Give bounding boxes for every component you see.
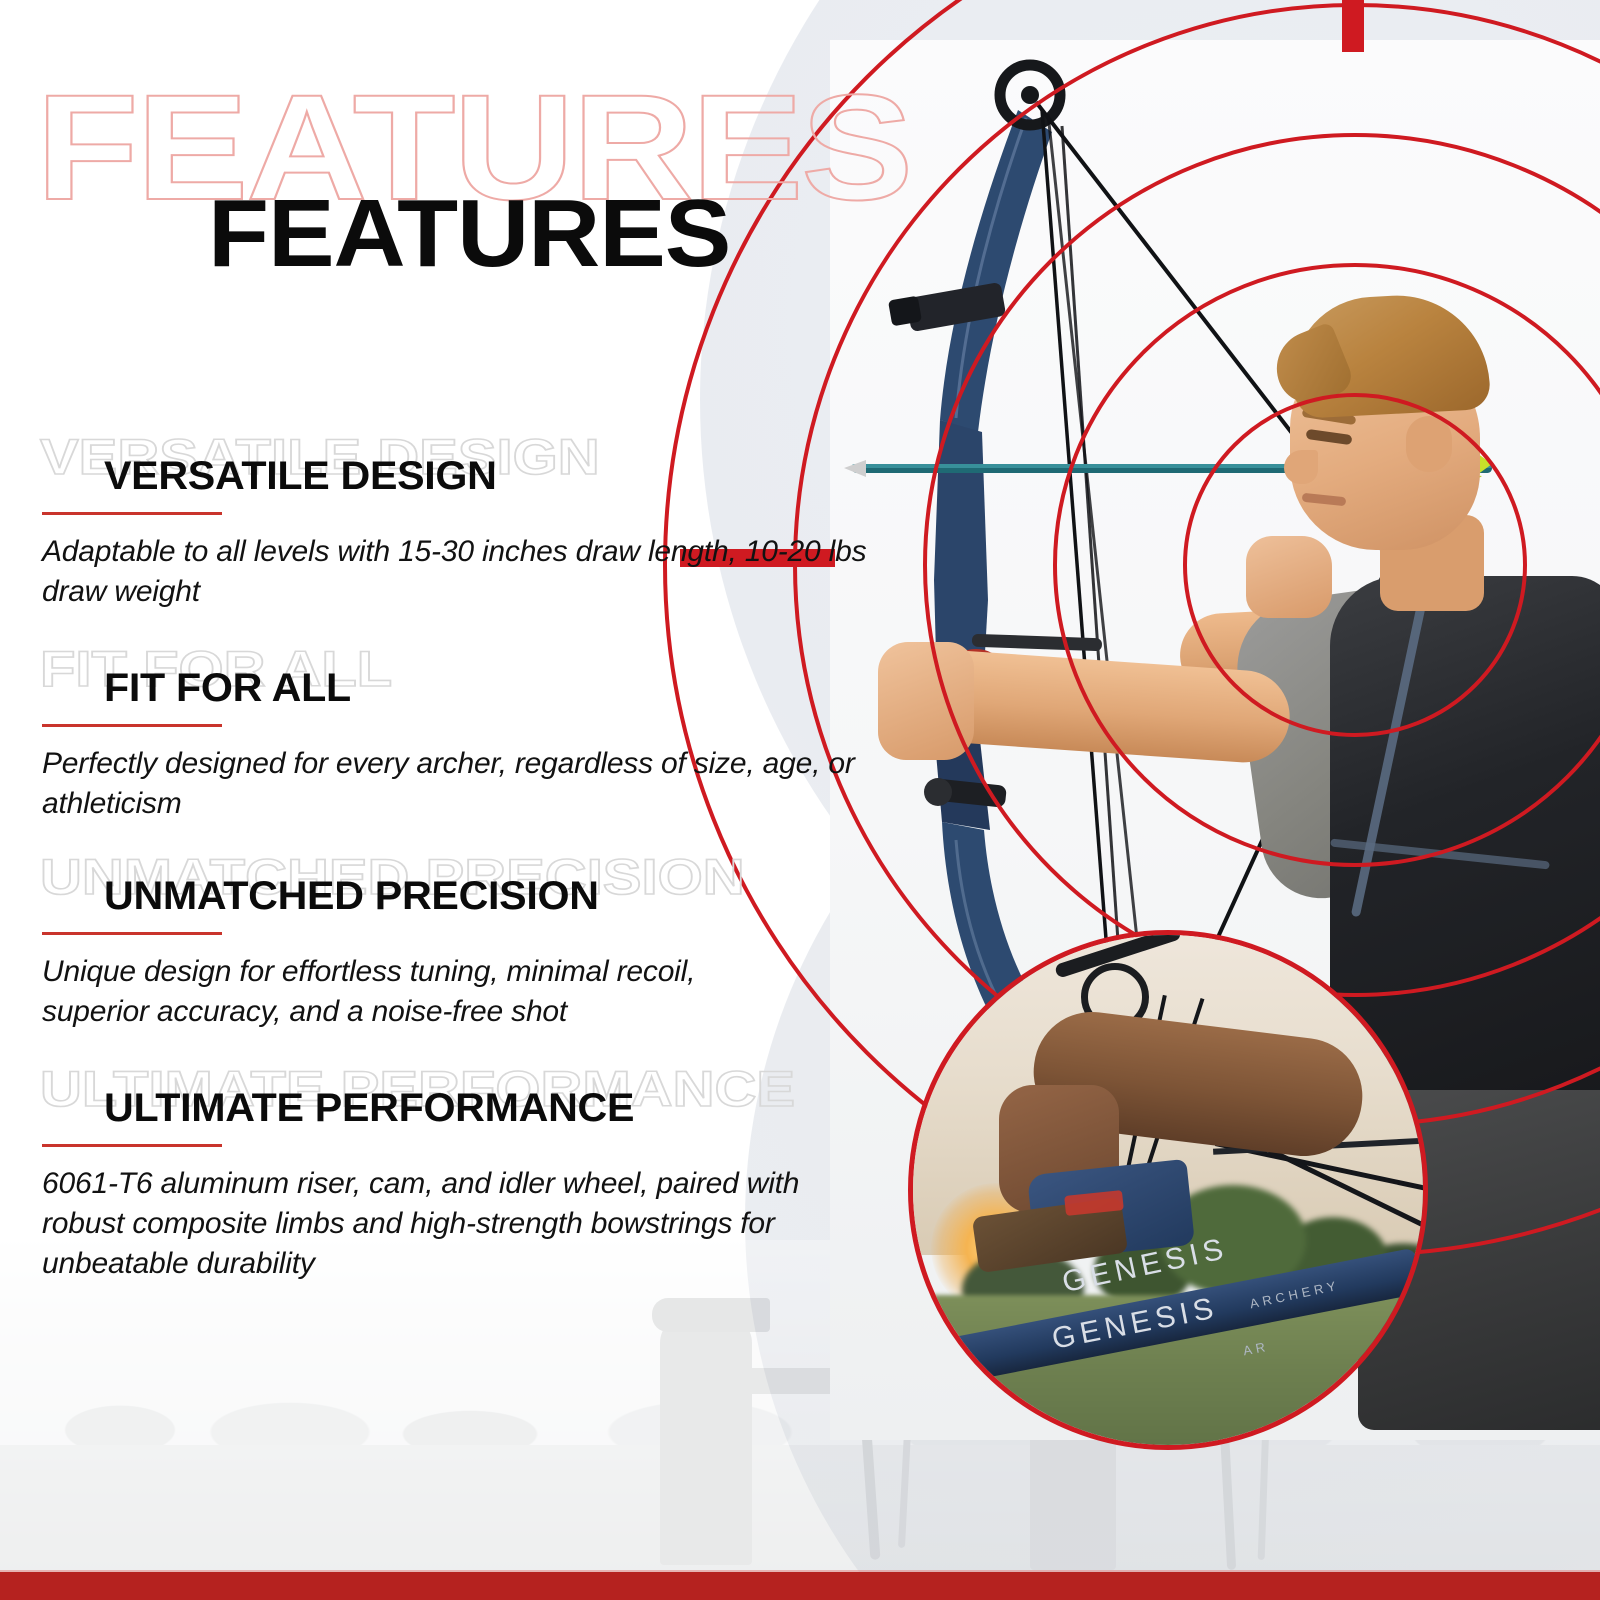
feature-heading: VERSATILE DESIGN (104, 456, 497, 496)
feature-heading: FIT FOR ALL (104, 668, 351, 708)
feature-body-text: Perfectly designed for every archer, reg… (42, 744, 882, 824)
feature-poster: GENESIS ARCHERY GENESIS AR FEATURES FEAT… (0, 0, 1600, 1600)
page-title: FEATURES (208, 186, 730, 282)
feature-heading: ULTIMATE PERFORMANCE (104, 1088, 634, 1128)
feature-heading: UNMATCHED PRECISION (104, 876, 599, 916)
feature-body-text: 6061-T6 aluminum riser, cam, and idler w… (42, 1164, 882, 1284)
feature-accent-rule (42, 724, 222, 727)
feature-accent-rule (42, 932, 222, 935)
feature-body-text: Unique design for effortless tuning, min… (42, 952, 802, 1032)
feature-body-text: Adaptable to all levels with 15-30 inche… (42, 532, 882, 612)
inset-bow-closeup-photo: GENESIS ARCHERY GENESIS AR (908, 930, 1428, 1450)
feature-accent-rule (42, 512, 222, 515)
feature-accent-rule (42, 1144, 222, 1147)
bottom-accent-bar (0, 1572, 1600, 1600)
crosshair-tick-top (1342, 0, 1364, 52)
